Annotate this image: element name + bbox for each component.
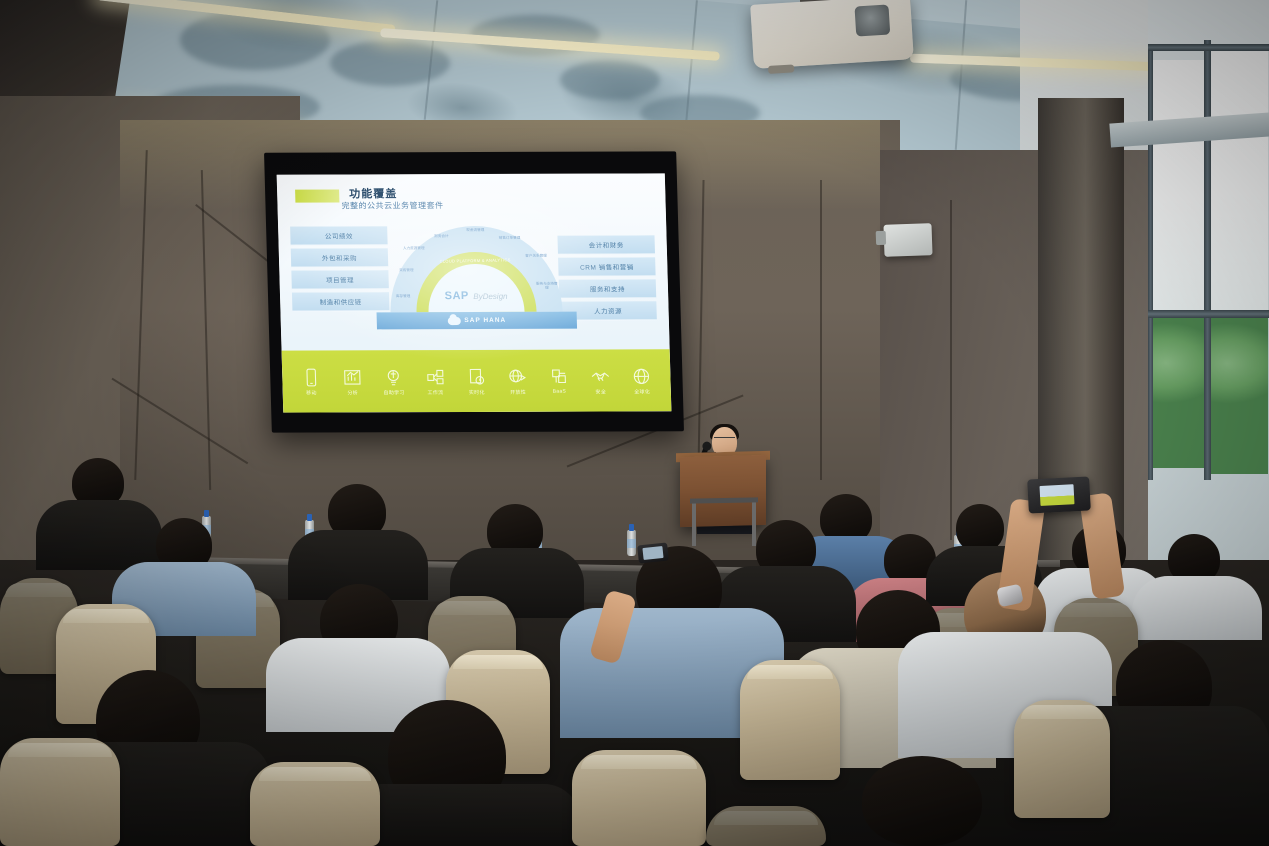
banquet-chair: [1014, 700, 1110, 818]
feature-item-global: 全球化: [624, 366, 659, 395]
audience-shoulders: [36, 500, 162, 570]
arch-label-3: 财务会计: [430, 234, 452, 239]
cloud-icon: [447, 317, 460, 325]
feature-item-baas: BaaS: [542, 367, 577, 395]
slide-left-panel-4: 制造和供应链: [292, 292, 390, 311]
feature-label: 安全: [595, 388, 606, 395]
presentation-slide: 功能覆盖 完整的公共云业务管理套件 公司绩效 外包和采购 项目管理 制造和供应链…: [277, 173, 672, 412]
wall-speaker: [883, 223, 932, 257]
feature-item-mobile: 移动: [294, 367, 329, 396]
arch-label-1: 采购管理: [395, 268, 417, 273]
arch-label-5: 销售订单管理: [498, 236, 520, 241]
slide-title: 功能覆盖: [349, 185, 397, 201]
chart-icon: [342, 367, 363, 387]
banquet-chair: [250, 762, 380, 846]
arch-label-7: 服务与支持管理: [536, 282, 558, 291]
slide-left-panel-3: 项目管理: [291, 270, 389, 289]
sap-hana-label: SAP HANA: [464, 317, 506, 324]
feature-icon-row: 移动 分析: [282, 349, 672, 412]
feature-item-security: 安全: [583, 366, 618, 395]
bottle-label: [627, 539, 636, 548]
projector-lens: [854, 5, 890, 37]
wall-groove: [820, 180, 822, 480]
banquet-chair: [572, 750, 706, 846]
feature-item-learning: 自助学习: [376, 367, 411, 396]
sap-hana-bar: SAP HANA: [377, 312, 578, 330]
slide-subtitle: 完整的公共云业务管理套件: [341, 200, 443, 211]
feature-label: 移动: [306, 389, 317, 396]
feature-label: BaaS: [553, 389, 567, 395]
document-icon: [466, 366, 487, 386]
slide-right-panel-2: CRM 销售和营销: [558, 257, 656, 276]
presenter-glasses: [714, 437, 735, 443]
window-view-trees: [1150, 318, 1204, 468]
podium-leg: [752, 500, 756, 546]
conference-room-photo: 功能覆盖 完整的公共云业务管理套件 公司绩效 外包和采购 项目管理 制造和供应链…: [0, 0, 1269, 846]
audience-head: [862, 756, 982, 846]
slide-right-panel-3: 服务和支持: [559, 279, 657, 298]
handheld-camera: [1027, 476, 1091, 513]
handshake-icon: [590, 366, 611, 386]
arch-label-2: 人力资源管理: [403, 246, 425, 251]
feature-item-openness: 开放性: [500, 366, 535, 395]
feature-label: 分析: [347, 389, 358, 396]
sap-bydesign-logo: SAP ByDesign: [432, 286, 521, 304]
feature-label: 工作流: [427, 389, 443, 396]
lightbulb-icon: [383, 367, 404, 387]
feature-label: 开放性: [510, 388, 526, 395]
banquet-chair: [0, 738, 120, 846]
audience-shoulders: [1132, 576, 1262, 640]
window-view-trees: [1210, 316, 1268, 474]
projection-screen: 功能覆盖 完整的公共云业务管理套件 公司绩效 外包和采购 项目管理 制造和供应链…: [264, 151, 684, 432]
window-head-rail: [1148, 44, 1269, 51]
feature-item-analytics: 分析: [335, 367, 370, 396]
title-accent-bar: [295, 190, 339, 203]
wall-groove: [950, 200, 952, 540]
arch-label-4: 现金流管理: [464, 228, 486, 233]
network-icon: [549, 367, 570, 387]
mobile-icon: [301, 367, 322, 387]
camera-screen: [1040, 484, 1075, 506]
feature-item-realtime: 实时化: [459, 366, 494, 395]
arch-label-6: 客户关系管理: [525, 254, 547, 259]
window-mullion: [1204, 40, 1211, 480]
feature-label: 实时化: [469, 388, 485, 395]
globe-arrow-icon: [507, 366, 528, 386]
window-pane: [1210, 48, 1268, 310]
banquet-chair: [740, 660, 840, 780]
feature-item-workflow: 工作流: [418, 367, 453, 396]
window-mullion: [1148, 50, 1153, 480]
audience-head: [956, 504, 1004, 552]
slide-right-panel-1: 会计和财务: [557, 235, 655, 254]
window-transom: [1148, 310, 1269, 318]
globe-icon: [631, 366, 652, 386]
slide-left-panel-2: 外包和采购: [291, 248, 389, 267]
feature-label: 自助学习: [383, 389, 404, 396]
mobile-phone: [637, 542, 669, 563]
podium-leg: [692, 502, 696, 546]
ceiling-pattern-blob: [560, 60, 660, 100]
slide-left-panel-1: 公司绩效: [290, 226, 388, 245]
puzzle-icon: [425, 367, 446, 387]
banquet-chair: [706, 806, 826, 846]
water-bottle: [627, 530, 636, 556]
window-pane: [1150, 60, 1204, 310]
arch-label-8: 库存管理: [392, 294, 414, 299]
bydesign-wordmark: ByDesign: [473, 292, 508, 301]
ceiling-projector: [750, 0, 914, 69]
window-wall: [1148, 0, 1269, 560]
sap-wordmark: SAP: [445, 290, 469, 302]
feature-label: 全球化: [634, 388, 650, 395]
